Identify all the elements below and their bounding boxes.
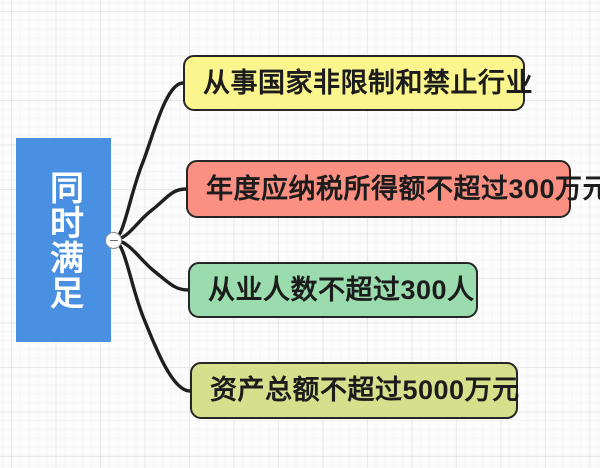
topic-node-taxable-income[interactable]: 年度应纳税所得额不超过300万元: [186, 160, 571, 218]
root-node[interactable]: 同时满足: [16, 138, 111, 342]
topic-node-label: 年度应纳税所得额不超过300万元: [188, 176, 600, 203]
topic-node-label: 资产总额不超过5000万元: [192, 377, 538, 404]
connector-branch-3: [113, 240, 188, 290]
root-node-label: 同时满足: [43, 170, 83, 310]
topic-node-label: 从业人数不超过300人: [190, 277, 493, 304]
connector-branch-2: [113, 189, 186, 240]
mindmap-canvas[interactable]: 同时满足 从事国家非限制和禁止行业 年度应纳税所得额不超过300万元 从业人数不…: [0, 0, 600, 468]
topic-node-total-assets[interactable]: 资产总额不超过5000万元: [190, 362, 518, 419]
minus-glyph: [110, 240, 118, 242]
topic-node-headcount[interactable]: 从业人数不超过300人: [188, 262, 478, 318]
topic-node-label: 从事国家非限制和禁止行业: [185, 70, 551, 97]
topic-node-industry[interactable]: 从事国家非限制和禁止行业: [183, 55, 525, 111]
minus-circle-icon[interactable]: [105, 232, 122, 249]
connector-branch-4: [113, 240, 190, 391]
connector-branch-1: [113, 83, 183, 240]
